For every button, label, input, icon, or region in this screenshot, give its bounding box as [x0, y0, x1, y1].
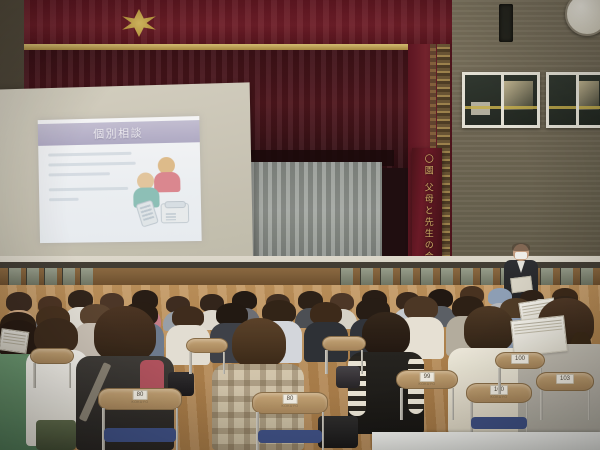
wall-panel-segment: [62, 268, 75, 285]
floor-bag: [36, 420, 76, 450]
chair-leg: [322, 412, 325, 450]
chair-back: [186, 338, 228, 353]
chair-back: [30, 348, 74, 364]
chair-empty[interactable]: [322, 336, 366, 374]
chair-leg: [33, 363, 36, 388]
chair-leg: [361, 350, 364, 374]
wall-vent-icon: [499, 4, 513, 42]
chair-seat: [471, 417, 527, 429]
handout-document: [0, 328, 29, 354]
chair-brand-text: KOKUYO: [132, 400, 149, 404]
illustration-person-b-body: [154, 172, 181, 193]
chair-leg: [176, 408, 179, 450]
window-mullion: [576, 75, 579, 125]
slide-illustration: [132, 155, 192, 228]
slide-text-line: [48, 152, 131, 157]
slide-title-bar: 個別相談: [38, 120, 200, 146]
chair-leg: [189, 352, 192, 374]
telephone-icon: [161, 203, 190, 224]
hair: [232, 318, 286, 368]
auditorium-photo: 〇園 父母と先生の会 個別相談: [0, 0, 600, 450]
pta-banner-text: 〇園 父母と先生の会: [422, 154, 431, 263]
wall-panel-segment: [580, 268, 593, 285]
chair-back: [322, 336, 366, 351]
proscenium-sheen: [24, 0, 452, 46]
chair-leg: [498, 368, 501, 394]
slide-title: 個別相談: [93, 124, 143, 141]
chair-leg: [325, 350, 328, 374]
chair[interactable]: 80 KOKUYO: [252, 392, 328, 450]
slide-text-line: [49, 198, 79, 201]
chair-number-tag: 100: [511, 354, 529, 364]
chair-brand-text: KOKUYO: [491, 395, 508, 399]
wall-panel-segment: [440, 268, 453, 285]
gold-star-emblem-icon: [122, 9, 156, 37]
wall-panel-segment: [44, 268, 57, 285]
chair-number-tag: 99: [420, 372, 435, 382]
chair[interactable]: 80 KOKUYO: [98, 388, 182, 450]
chair-seat: [104, 428, 176, 442]
slide-text-line: [48, 162, 135, 167]
chair-leg: [400, 388, 403, 420]
wall-panel-segment: [420, 268, 433, 285]
hair: [362, 312, 410, 356]
window-mullion: [501, 75, 504, 125]
chair[interactable]: 99 KOKUYO: [396, 370, 458, 420]
hair: [94, 306, 156, 362]
wall-panel-segment: [8, 268, 21, 285]
wall-panel-segment: [340, 268, 353, 285]
slide-body-text: [48, 152, 138, 209]
hair: [6, 292, 32, 312]
chair-leg: [540, 390, 543, 420]
window-left: [462, 72, 540, 128]
wall-panel-segment: [380, 268, 393, 285]
chair-leg: [69, 363, 72, 388]
chair-number-tag: 80: [283, 394, 298, 404]
face-mask-icon: [515, 252, 527, 259]
wall-panel-segment: [560, 268, 573, 285]
proscenium-header: [24, 0, 452, 46]
chair-leg: [452, 388, 455, 420]
presenter-hair: [512, 243, 530, 251]
wall-panel-segment: [360, 268, 373, 285]
wall-panel-segment: [400, 268, 413, 285]
chair-empty[interactable]: [30, 348, 74, 388]
chair-seat: [258, 430, 322, 443]
chair-leg: [588, 390, 591, 420]
window-right: [546, 72, 600, 128]
chair-brand-text: KOKUYO: [282, 404, 299, 408]
chair-number-tag: 103: [556, 374, 574, 384]
chair-empty[interactable]: [186, 338, 228, 374]
wall-panel-segment: [26, 268, 39, 285]
chair[interactable]: 103: [536, 372, 594, 420]
slide-text-line: [49, 172, 110, 176]
foreground-table: [372, 432, 600, 450]
hair: [464, 306, 514, 352]
chair-brand-text: KOKUYO: [419, 382, 436, 386]
wall-panel-segment: [80, 268, 93, 285]
chair-leg: [223, 352, 226, 374]
projection-screen: 個別相談: [0, 82, 253, 273]
slide-text-line: [49, 187, 128, 191]
wall-panel-segment: [540, 268, 553, 285]
chair-number-tag: 80: [133, 390, 148, 400]
wall-panel-segment: [460, 268, 473, 285]
window-rail: [549, 106, 600, 109]
presentation-slide: 個別相談: [38, 116, 202, 243]
wall-panel-segment: [480, 268, 493, 285]
handout-document: [510, 315, 567, 356]
